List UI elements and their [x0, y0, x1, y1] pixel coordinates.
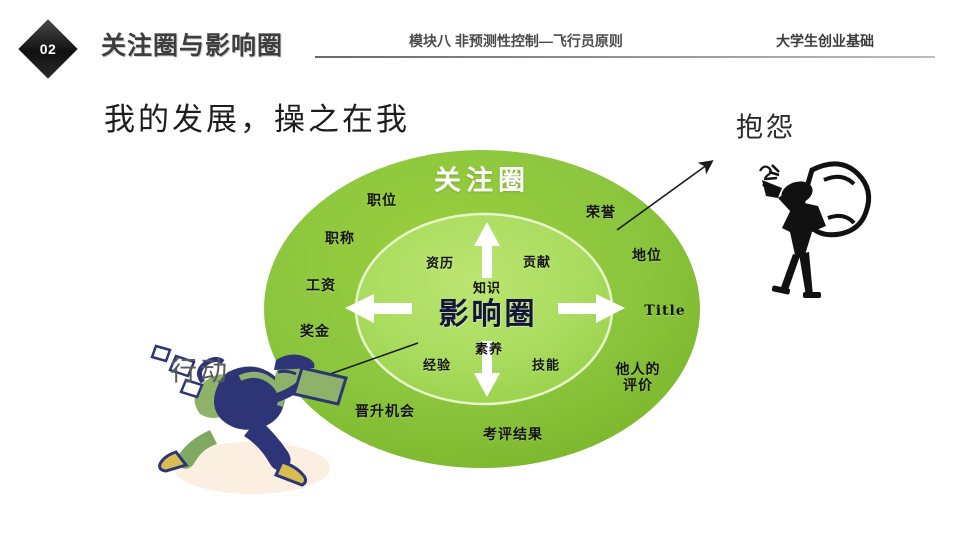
- slide-canvas: 02 关注圈与影响圈 模块八 非预测性控制—飞行员原则 大学生创业基础 我的发展…: [0, 0, 960, 540]
- complaining-person-illustration: [760, 164, 869, 298]
- outer-label-title: Title: [644, 303, 685, 319]
- outer-label-promotion: 晋升机会: [355, 401, 415, 421]
- inner-label-experience: 经验: [423, 355, 451, 374]
- inner-label-seniority: 资历: [426, 253, 454, 272]
- inner-label-skill: 技能: [532, 355, 560, 374]
- outer-label-status: 地位: [632, 245, 662, 265]
- annotation-complain: 抱怨: [736, 106, 796, 145]
- concentric-circles-diagram: 关注圈 影响圈 职位 职称 工资 奖金 晋升机会 考评结果 他人的评价 Titl…: [0, 0, 960, 540]
- outer-label-honor: 荣誉: [586, 202, 616, 222]
- outer-label-others-evaluation: 他人的评价: [614, 361, 662, 393]
- outer-circle-title: 关注圈: [434, 159, 530, 198]
- outer-label-job-title-rank: 职称: [325, 228, 355, 248]
- inner-label-character: 素养: [475, 339, 503, 358]
- outer-label-bonus: 奖金: [300, 321, 330, 341]
- outer-label-salary: 工资: [306, 275, 336, 295]
- annotation-action: 行动: [170, 350, 230, 389]
- diagram-svg: [0, 0, 960, 540]
- outer-label-position: 职位: [367, 190, 397, 210]
- inner-label-knowledge: 知识: [473, 278, 501, 297]
- inner-label-contribution: 贡献: [523, 252, 551, 271]
- outer-label-appraisal-result: 考评结果: [483, 424, 543, 444]
